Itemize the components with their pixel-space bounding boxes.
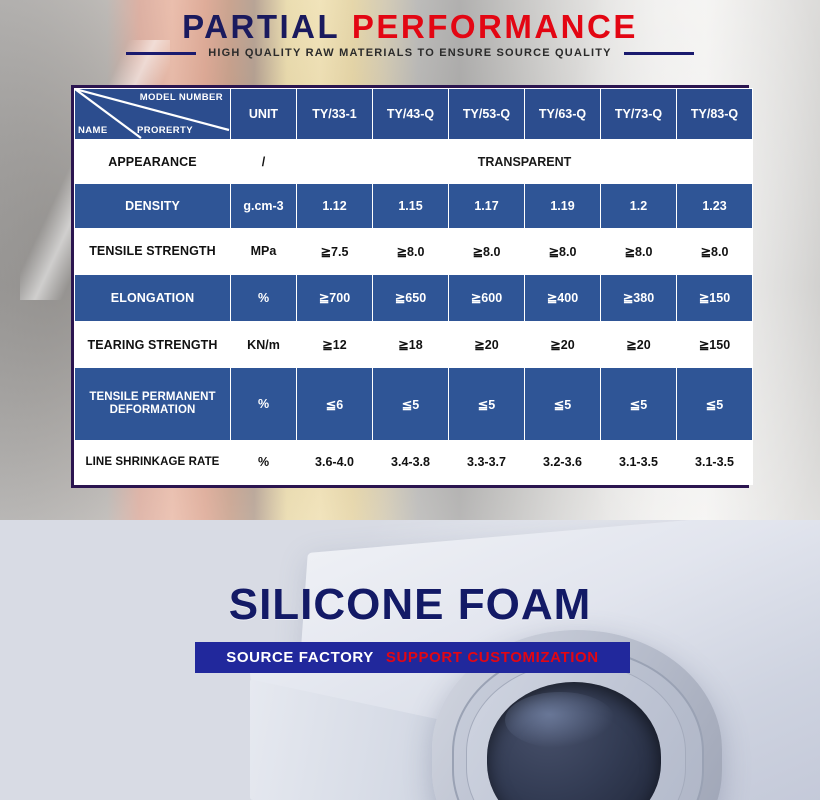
row-value: 1.17 — [449, 184, 525, 228]
row-value: ≧20 — [601, 321, 677, 368]
row-value: 3.1-3.5 — [601, 440, 677, 484]
table-row: APPEARANCE/TRANSPARENT — [75, 140, 753, 184]
table-header-cell: TY/33-1 — [297, 89, 373, 140]
banner-source-factory: SOURCE FACTORY — [226, 649, 374, 666]
row-value: ≧400 — [525, 275, 601, 322]
row-value: ≧380 — [601, 275, 677, 322]
row-value: ≦6 — [297, 368, 373, 440]
row-property-name: TENSILE PERMANENT DEFORMATION — [75, 368, 231, 440]
row-value: ≧700 — [297, 275, 373, 322]
row-value: ≧150 — [677, 321, 753, 368]
row-unit: g.cm-3 — [231, 184, 297, 228]
product-banner: SOURCE FACTORY SUPPORT CUSTOMIZATION — [195, 642, 630, 673]
product-name: SILICONE FOAM — [0, 580, 820, 630]
row-property-name: TEARING STRENGTH — [75, 321, 231, 368]
table-header-cell: TY/53-Q — [449, 89, 525, 140]
subtitle-rule-right — [624, 52, 694, 55]
row-value: 1.19 — [525, 184, 601, 228]
row-value: ≧650 — [373, 275, 449, 322]
row-unit: % — [231, 275, 297, 322]
table-row: TENSILE PERMANENT DEFORMATION%≦6≦5≦5≦5≦5… — [75, 368, 753, 440]
row-value: ≧20 — [449, 321, 525, 368]
row-value: ≧8.0 — [601, 228, 677, 275]
row-unit: % — [231, 368, 297, 440]
row-property-name: LINE SHRINKAGE RATE — [75, 440, 231, 484]
product-spec-page: PARTIAL PERFORMANCE HIGH QUALITY RAW MAT… — [0, 0, 820, 800]
row-value: 1.15 — [373, 184, 449, 228]
row-value: ≧8.0 — [525, 228, 601, 275]
table-row: TEARING STRENGTHKN/m≧12≧18≧20≧20≧20≧150 — [75, 321, 753, 368]
row-value: ≧8.0 — [373, 228, 449, 275]
row-property-name: TENSILE STRENGTH — [75, 228, 231, 275]
page-title-part1: PARTIAL — [182, 8, 340, 45]
spec-table-frame: MODEL NUMBERNAMEPRORERTYUNITTY/33-1TY/43… — [71, 85, 749, 488]
corner-label-model-number: MODEL NUMBER — [140, 92, 223, 103]
row-value: 3.2-3.6 — [525, 440, 601, 484]
banner-support-customization: SUPPORT CUSTOMIZATION — [386, 649, 599, 666]
corner-diagonal-box: MODEL NUMBERNAMEPRORERTY — [75, 89, 230, 139]
table-header-cell: TY/73-Q — [601, 89, 677, 140]
row-value: ≦5 — [677, 368, 753, 440]
table-header-cell: UNIT — [231, 89, 297, 140]
row-value: ≧8.0 — [677, 228, 753, 275]
subtitle-row: HIGH QUALITY RAW MATERIALS TO ENSURE SOU… — [0, 47, 820, 59]
table-header-row: MODEL NUMBERNAMEPRORERTYUNITTY/33-1TY/43… — [75, 89, 753, 140]
row-value: 3.4-3.8 — [373, 440, 449, 484]
table-row: LINE SHRINKAGE RATE%3.6-4.03.4-3.83.3-3.… — [75, 440, 753, 484]
row-value: ≦5 — [601, 368, 677, 440]
row-value: ≧150 — [677, 275, 753, 322]
header-corner-cell: MODEL NUMBERNAMEPRORERTY — [75, 89, 231, 140]
row-unit: / — [231, 140, 297, 184]
page-title-part2: PERFORMANCE — [352, 8, 638, 45]
row-value: ≧600 — [449, 275, 525, 322]
row-value: ≧20 — [525, 321, 601, 368]
table-header-cell: TY/43-Q — [373, 89, 449, 140]
foam-roll-core-gloss — [505, 692, 615, 748]
spec-table: MODEL NUMBERNAMEPRORERTYUNITTY/33-1TY/43… — [74, 88, 753, 485]
row-unit: KN/m — [231, 321, 297, 368]
row-value: ≧7.5 — [297, 228, 373, 275]
row-value: ≧8.0 — [449, 228, 525, 275]
row-value: 3.6-4.0 — [297, 440, 373, 484]
row-value: 1.2 — [601, 184, 677, 228]
row-property-name: ELONGATION — [75, 275, 231, 322]
row-value: 1.12 — [297, 184, 373, 228]
corner-label-prorerty: PRORERTY — [137, 125, 193, 136]
row-property-name: APPEARANCE — [75, 140, 231, 184]
table-header-cell: TY/83-Q — [677, 89, 753, 140]
row-value: ≦5 — [373, 368, 449, 440]
table-header-cell: TY/63-Q — [525, 89, 601, 140]
product-photo-section: SILICONE FOAM SOURCE FACTORY SUPPORT CUS… — [0, 520, 820, 800]
row-value: ≧12 — [297, 321, 373, 368]
table-row: DENSITYg.cm-31.121.151.171.191.21.23 — [75, 184, 753, 228]
row-value: 3.3-3.7 — [449, 440, 525, 484]
page-subtitle: HIGH QUALITY RAW MATERIALS TO ENSURE SOU… — [208, 47, 611, 59]
row-unit: MPa — [231, 228, 297, 275]
row-property-name: DENSITY — [75, 184, 231, 228]
row-merged-value: TRANSPARENT — [297, 140, 753, 184]
row-value: ≧18 — [373, 321, 449, 368]
corner-label-name: NAME — [78, 125, 108, 136]
top-banner-section: PARTIAL PERFORMANCE HIGH QUALITY RAW MAT… — [0, 0, 820, 520]
headline-wrap: PARTIAL PERFORMANCE — [0, 8, 820, 46]
row-value: ≦5 — [525, 368, 601, 440]
table-row: ELONGATION%≧700≧650≧600≧400≧380≧150 — [75, 275, 753, 322]
subtitle-rule-left — [126, 52, 196, 55]
row-value: 1.23 — [677, 184, 753, 228]
page-title: PARTIAL PERFORMANCE — [0, 8, 820, 46]
table-row: TENSILE STRENGTHMPa≧7.5≧8.0≧8.0≧8.0≧8.0≧… — [75, 228, 753, 275]
row-value: ≦5 — [449, 368, 525, 440]
row-unit: % — [231, 440, 297, 484]
row-value: 3.1-3.5 — [677, 440, 753, 484]
